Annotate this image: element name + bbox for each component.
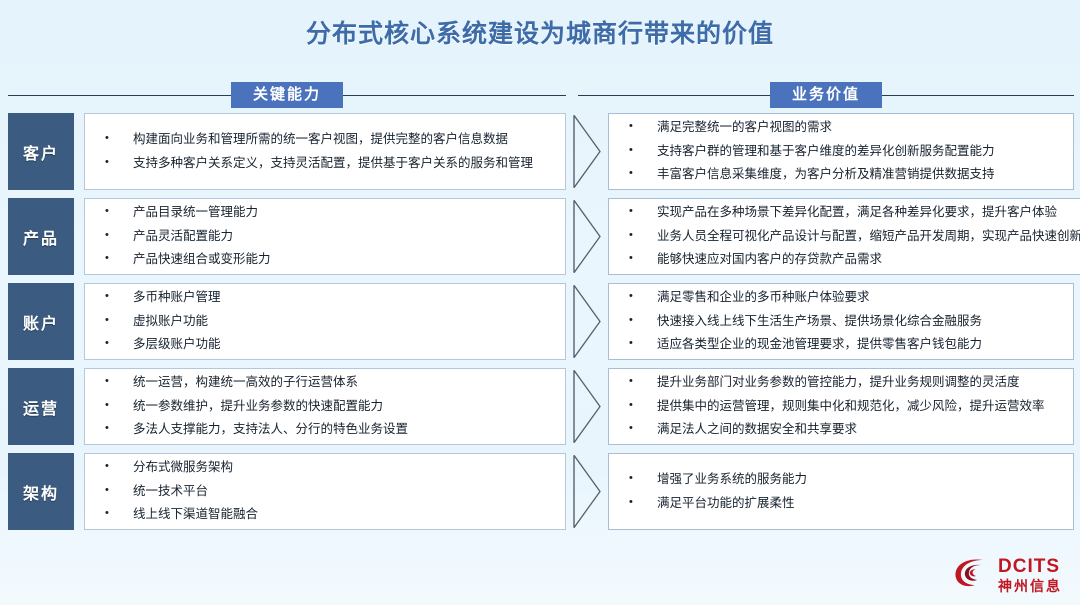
value-panel: 增强了业务系统的服务能力满足平台功能的扩展柔性: [608, 453, 1074, 530]
list-item: 提升业务部门对业务参数的管控能力，提升业务规则调整的灵活度: [623, 376, 1059, 390]
capability-panel: 分布式微服务架构统一技术平台线上线下渠道智能融合: [84, 453, 566, 530]
chevron-right-icon: [570, 198, 604, 275]
dcits-swoosh-icon: [953, 556, 991, 593]
list-item: 构建面向业务和管理所需的统一客户视图，提供完整的客户信息数据: [99, 133, 551, 147]
capability-list: 产品目录统一管理能力产品灵活配置能力产品快速组合或变形能力: [99, 206, 551, 267]
list-item: 提供集中的运营管理，规则集中化和规范化，减少风险，提升运营效率: [623, 400, 1059, 414]
column-headers: 关键能力 业务价值: [0, 82, 1080, 112]
category-chip-1[interactable]: 产品: [8, 198, 74, 275]
value-list: 增强了业务系统的服务能力满足平台功能的扩展柔性: [623, 473, 1059, 511]
capability-panel: 产品目录统一管理能力产品灵活配置能力产品快速组合或变形能力: [84, 198, 566, 275]
list-item: 支持多种客户关系定义，支持灵活配置，提供基于客户关系的服务和管理: [99, 157, 551, 171]
list-item: 线上线下渠道智能融合: [99, 508, 551, 522]
list-item: 虚拟账户功能: [99, 315, 551, 329]
capability-panel: 多币种账户管理虚拟账户功能多层级账户功能: [84, 283, 566, 360]
category-chip-4[interactable]: 架构: [8, 453, 74, 530]
column-header-capabilities: 关键能力: [8, 82, 566, 108]
value-list: 提升业务部门对业务参数的管控能力，提升业务规则调整的灵活度提供集中的运营管理，规…: [623, 376, 1059, 437]
category-chip-2[interactable]: 账户: [8, 283, 74, 360]
list-item: 实现产品在多种场景下差异化配置，满足各种差异化要求，提升客户体验: [623, 206, 1080, 220]
list-item: 快速接入线上线下生活生产场景、提供场景化综合金融服务: [623, 315, 1059, 329]
capability-panel: 构建面向业务和管理所需的统一客户视图，提供完整的客户信息数据支持多种客户关系定义…: [84, 113, 566, 190]
list-item: 满足法人之间的数据安全和共享要求: [623, 423, 1059, 437]
list-item: 产品快速组合或变形能力: [99, 253, 551, 267]
value-list: 实现产品在多种场景下差异化配置，满足各种差异化要求，提升客户体验业务人员全程可视…: [623, 206, 1080, 267]
value-list: 满足零售和企业的多币种账户体验要求快速接入线上线下生活生产场景、提供场景化综合金…: [623, 291, 1059, 352]
header-rule-left: [578, 95, 770, 96]
chevron-right-icon: [570, 368, 604, 445]
capability-panel: 统一运营，构建统一高效的子行运营体系统一参数维护，提升业务参数的快速配置能力多法…: [84, 368, 566, 445]
chevron-right-icon: [570, 113, 604, 190]
header-badge-values: 业务价值: [770, 82, 882, 108]
list-item: 增强了业务系统的服务能力: [623, 473, 1059, 487]
category-chip-3[interactable]: 运营: [8, 368, 74, 445]
list-item: 满足完整统一的客户视图的需求: [623, 121, 1059, 135]
chevron-right-icon: [570, 453, 604, 530]
list-item: 适应各类型企业的现金池管理要求，提供零售客户钱包能力: [623, 338, 1059, 352]
list-item: 产品目录统一管理能力: [99, 206, 551, 220]
category-chip-0[interactable]: 客户: [8, 113, 74, 190]
logo-text-en: DCITS: [998, 557, 1062, 576]
list-item: 满足平台功能的扩展柔性: [623, 497, 1059, 511]
logo-text-cn: 神州信息: [998, 579, 1062, 593]
capability-list: 分布式微服务架构统一技术平台线上线下渠道智能融合: [99, 461, 551, 522]
list-item: 统一技术平台: [99, 485, 551, 499]
page-title: 分布式核心系统建设为城商行带来的价值: [0, 14, 1080, 50]
header-rule-right: [882, 95, 1074, 96]
list-item: 统一运营，构建统一高效的子行运营体系: [99, 376, 551, 390]
list-item: 统一参数维护，提升业务参数的快速配置能力: [99, 400, 551, 414]
header-badge-capabilities: 关键能力: [231, 82, 343, 108]
dcits-logo: DCITS 神州信息: [953, 556, 1062, 593]
chevron-right-icon: [570, 283, 604, 360]
matrix-row: 运营统一运营，构建统一高效的子行运营体系统一参数维护，提升业务参数的快速配置能力…: [0, 368, 1080, 445]
value-panel: 满足零售和企业的多币种账户体验要求快速接入线上线下生活生产场景、提供场景化综合金…: [608, 283, 1074, 360]
value-matrix: 客户构建面向业务和管理所需的统一客户视图，提供完整的客户信息数据支持多种客户关系…: [0, 113, 1080, 538]
header-rule-left: [8, 95, 231, 96]
matrix-row: 账户多币种账户管理虚拟账户功能多层级账户功能满足零售和企业的多币种账户体验要求快…: [0, 283, 1080, 360]
list-item: 业务人员全程可视化产品设计与配置，缩短产品开发周期，实现产品快速创新: [623, 230, 1080, 244]
value-panel: 实现产品在多种场景下差异化配置，满足各种差异化要求，提升客户体验业务人员全程可视…: [608, 198, 1080, 275]
list-item: 能够快速应对国内客户的存贷款产品需求: [623, 253, 1080, 267]
capability-list: 统一运营，构建统一高效的子行运营体系统一参数维护，提升业务参数的快速配置能力多法…: [99, 376, 551, 437]
list-item: 分布式微服务架构: [99, 461, 551, 475]
value-panel: 提升业务部门对业务参数的管控能力，提升业务规则调整的灵活度提供集中的运营管理，规…: [608, 368, 1074, 445]
list-item: 丰富客户信息采集维度，为客户分析及精准营销提供数据支持: [623, 168, 1059, 182]
matrix-row: 架构分布式微服务架构统一技术平台线上线下渠道智能融合增强了业务系统的服务能力满足…: [0, 453, 1080, 530]
list-item: 多层级账户功能: [99, 338, 551, 352]
column-header-values: 业务价值: [578, 82, 1074, 108]
dcits-wordmark: DCITS 神州信息: [998, 557, 1062, 593]
capability-list: 构建面向业务和管理所需的统一客户视图，提供完整的客户信息数据支持多种客户关系定义…: [99, 133, 551, 171]
list-item: 满足零售和企业的多币种账户体验要求: [623, 291, 1059, 305]
list-item: 支持客户群的管理和基于客户维度的差异化创新服务配置能力: [623, 145, 1059, 159]
header-rule-right: [343, 95, 566, 96]
value-list: 满足完整统一的客户视图的需求支持客户群的管理和基于客户维度的差异化创新服务配置能…: [623, 121, 1059, 182]
matrix-row: 客户构建面向业务和管理所需的统一客户视图，提供完整的客户信息数据支持多种客户关系…: [0, 113, 1080, 190]
list-item: 多币种账户管理: [99, 291, 551, 305]
capability-list: 多币种账户管理虚拟账户功能多层级账户功能: [99, 291, 551, 352]
matrix-row: 产品产品目录统一管理能力产品灵活配置能力产品快速组合或变形能力实现产品在多种场景…: [0, 198, 1080, 275]
list-item: 产品灵活配置能力: [99, 230, 551, 244]
list-item: 多法人支撑能力，支持法人、分行的特色业务设置: [99, 423, 551, 437]
value-panel: 满足完整统一的客户视图的需求支持客户群的管理和基于客户维度的差异化创新服务配置能…: [608, 113, 1074, 190]
